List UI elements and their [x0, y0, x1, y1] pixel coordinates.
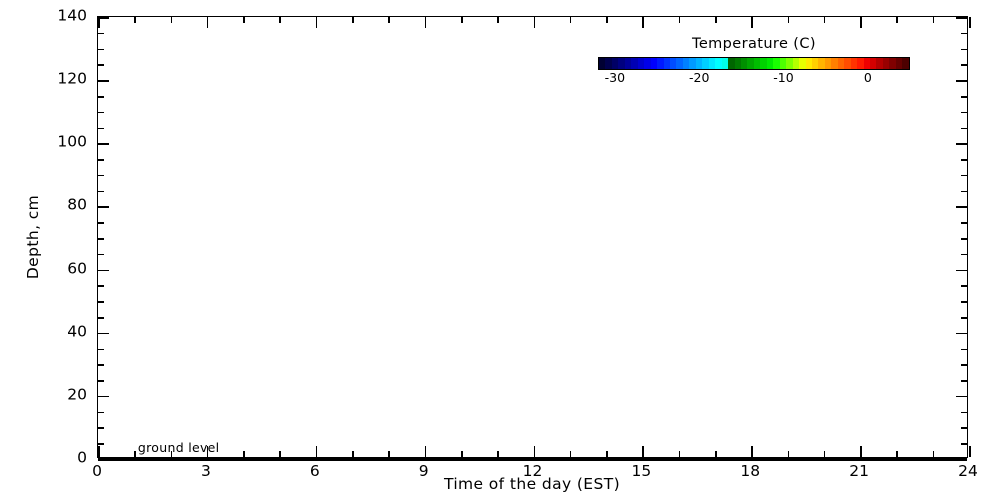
y-axis-tick-minor [98, 128, 104, 130]
x-axis-tick-minor [134, 451, 136, 457]
y-axis-title: Depth, cm [24, 195, 42, 279]
y-axis-tick-minor [98, 64, 104, 66]
x-axis-tick-minor [933, 451, 935, 457]
x-axis-tick-minor [896, 451, 898, 457]
y-axis-tick-label: 20 [67, 387, 87, 403]
x-axis-tick-minor-top [497, 17, 499, 23]
y-axis-tick-major [98, 270, 109, 272]
y-axis-tick-minor-right [961, 238, 967, 240]
y-axis-tick-label: 80 [67, 198, 87, 214]
y-axis-tick-major [98, 333, 109, 335]
y-axis-tick-major [98, 396, 109, 398]
y-axis-tick-minor [98, 33, 104, 35]
x-axis-tick-label: 21 [849, 464, 869, 480]
y-axis-tick-label: 40 [67, 324, 87, 340]
y-axis-tick-minor-right [961, 380, 967, 382]
y-axis-tick-minor-right [961, 49, 967, 51]
y-axis-tick-minor [98, 301, 104, 303]
x-axis-tick-minor-top [933, 17, 935, 23]
y-axis-tick-minor-right [961, 191, 967, 193]
x-axis-tick-minor-top [134, 17, 136, 23]
x-axis-tick-minor [570, 451, 572, 457]
y-axis-tick-major-right [956, 17, 967, 19]
x-axis-tick-minor [606, 451, 608, 457]
x-axis-tick-major [98, 446, 100, 457]
y-axis-tick-minor [98, 191, 104, 193]
colorbar-tick-label: -10 [773, 72, 793, 85]
y-axis-tick-minor-right [961, 128, 967, 130]
x-axis-tick-minor-top [279, 17, 281, 23]
y-axis-tick-minor-right [961, 222, 967, 224]
x-axis-tick-major [751, 446, 753, 457]
x-axis-tick-minor [279, 451, 281, 457]
x-axis-tick-minor [243, 451, 245, 457]
y-axis-tick-minor [98, 175, 104, 177]
y-axis-tick-minor-right [961, 254, 967, 256]
colorbar-gradient [598, 57, 910, 70]
x-axis-tick-minor-top [461, 17, 463, 23]
x-axis-tick-label: 0 [92, 464, 102, 480]
ground-level-line [98, 458, 967, 461]
y-axis-tick-minor-right [961, 285, 967, 287]
y-axis-tick-minor [98, 317, 104, 319]
y-axis-tick-minor-right [961, 412, 967, 414]
y-axis-tick-major [98, 143, 109, 145]
x-axis-tick-minor [461, 451, 463, 457]
y-axis-tick-minor [98, 222, 104, 224]
x-axis-tick-major-top [316, 17, 318, 28]
x-axis-tick-minor-top [896, 17, 898, 23]
y-axis-tick-minor-right [961, 33, 967, 35]
x-axis-tick-major [316, 446, 318, 457]
colorbar-tick-label: 0 [864, 72, 872, 85]
colorbar-tick-label: -30 [605, 72, 625, 85]
y-axis-tick-major-right [956, 396, 967, 398]
colorbar-title: Temperature (C) [692, 36, 816, 52]
y-axis-tick-minor [98, 412, 104, 414]
x-axis-tick-major-top [860, 17, 862, 28]
y-axis-tick-minor [98, 49, 104, 51]
x-axis-tick-minor [497, 451, 499, 457]
x-axis-tick-major [969, 446, 971, 457]
x-axis-tick-label: 9 [419, 464, 429, 480]
x-axis-tick-major [425, 446, 427, 457]
y-axis-tick-minor-right [961, 159, 967, 161]
x-axis-tick-major-top [751, 17, 753, 28]
x-axis-tick-label: 24 [958, 464, 978, 480]
x-axis-tick-major [642, 446, 644, 457]
y-axis-tick-minor-right [961, 112, 967, 114]
y-axis-tick-minor [98, 427, 104, 429]
x-axis-tick-minor-top [570, 17, 572, 23]
plot-frame: ground level [97, 16, 968, 458]
y-axis-tick-major [98, 206, 109, 208]
y-axis-tick-label: 140 [57, 8, 87, 24]
x-axis-tick-label: 15 [632, 464, 652, 480]
y-axis-tick-minor [98, 96, 104, 98]
y-axis-tick-minor-right [961, 317, 967, 319]
x-axis-tick-major-top [425, 17, 427, 28]
x-axis-tick-minor-top [824, 17, 826, 23]
x-axis-tick-label: 18 [740, 464, 760, 480]
y-axis-tick-minor [98, 159, 104, 161]
y-axis-tick-label: 120 [57, 71, 87, 87]
y-axis-tick-minor [98, 349, 104, 351]
y-axis-tick-minor-right [961, 301, 967, 303]
x-axis-tick-minor [788, 451, 790, 457]
colorbar-segment [902, 58, 908, 69]
x-axis-tick-minor-top [388, 17, 390, 23]
y-axis-tick-label: 0 [77, 450, 87, 466]
y-axis-tick-minor-right [961, 427, 967, 429]
y-axis-tick-minor [98, 364, 104, 366]
y-axis-tick-minor [98, 380, 104, 382]
x-axis-tick-major-top [969, 17, 971, 28]
y-axis-tick-minor [98, 238, 104, 240]
x-axis-tick-minor [171, 451, 173, 457]
y-axis-tick-minor [98, 254, 104, 256]
x-axis-tick-minor [388, 451, 390, 457]
y-axis-tick-minor-right [961, 349, 967, 351]
x-axis-tick-minor [715, 451, 717, 457]
y-axis-tick-major-right [956, 206, 967, 208]
x-axis-tick-major-top [207, 17, 209, 28]
plot-data-area: ground level [98, 17, 967, 457]
y-axis-tick-major-right [956, 80, 967, 82]
y-axis-tick-major [98, 459, 109, 461]
x-axis-tick-minor-top [171, 17, 173, 23]
x-axis-tick-label: 6 [310, 464, 320, 480]
y-axis-tick-major-right [956, 459, 967, 461]
x-axis-tick-minor [824, 451, 826, 457]
x-axis-tick-minor-top [352, 17, 354, 23]
x-axis-tick-minor-top [243, 17, 245, 23]
x-axis-tick-major [860, 446, 862, 457]
x-axis-tick-minor-top [715, 17, 717, 23]
x-axis-tick-major [207, 446, 209, 457]
y-axis-tick-label: 60 [67, 261, 87, 277]
colorbar-tick-label: -20 [689, 72, 709, 85]
y-axis-tick-minor-right [961, 175, 967, 177]
x-axis-tick-major-top [98, 17, 100, 28]
y-axis-tick-minor [98, 285, 104, 287]
x-axis-tick-minor-top [679, 17, 681, 23]
y-axis-tick-minor-right [961, 443, 967, 445]
y-axis-tick-major-right [956, 333, 967, 335]
y-axis-tick-major [98, 17, 109, 19]
y-axis-tick-minor [98, 112, 104, 114]
x-axis-tick-label: 12 [523, 464, 543, 480]
x-axis-tick-minor [679, 451, 681, 457]
y-axis-tick-minor [98, 443, 104, 445]
y-axis-tick-major [98, 80, 109, 82]
y-axis-tick-minor-right [961, 96, 967, 98]
x-axis-tick-label: 3 [201, 464, 211, 480]
x-axis-tick-minor-top [606, 17, 608, 23]
y-axis-tick-minor-right [961, 364, 967, 366]
y-axis-tick-major-right [956, 270, 967, 272]
x-axis-tick-major-top [642, 17, 644, 28]
y-axis-tick-label: 100 [57, 135, 87, 151]
x-axis-tick-minor-top [788, 17, 790, 23]
x-axis-tick-minor [352, 451, 354, 457]
y-axis-tick-major-right [956, 143, 967, 145]
y-axis-tick-minor-right [961, 64, 967, 66]
x-axis-tick-major [534, 446, 536, 457]
x-axis-tick-major-top [534, 17, 536, 28]
